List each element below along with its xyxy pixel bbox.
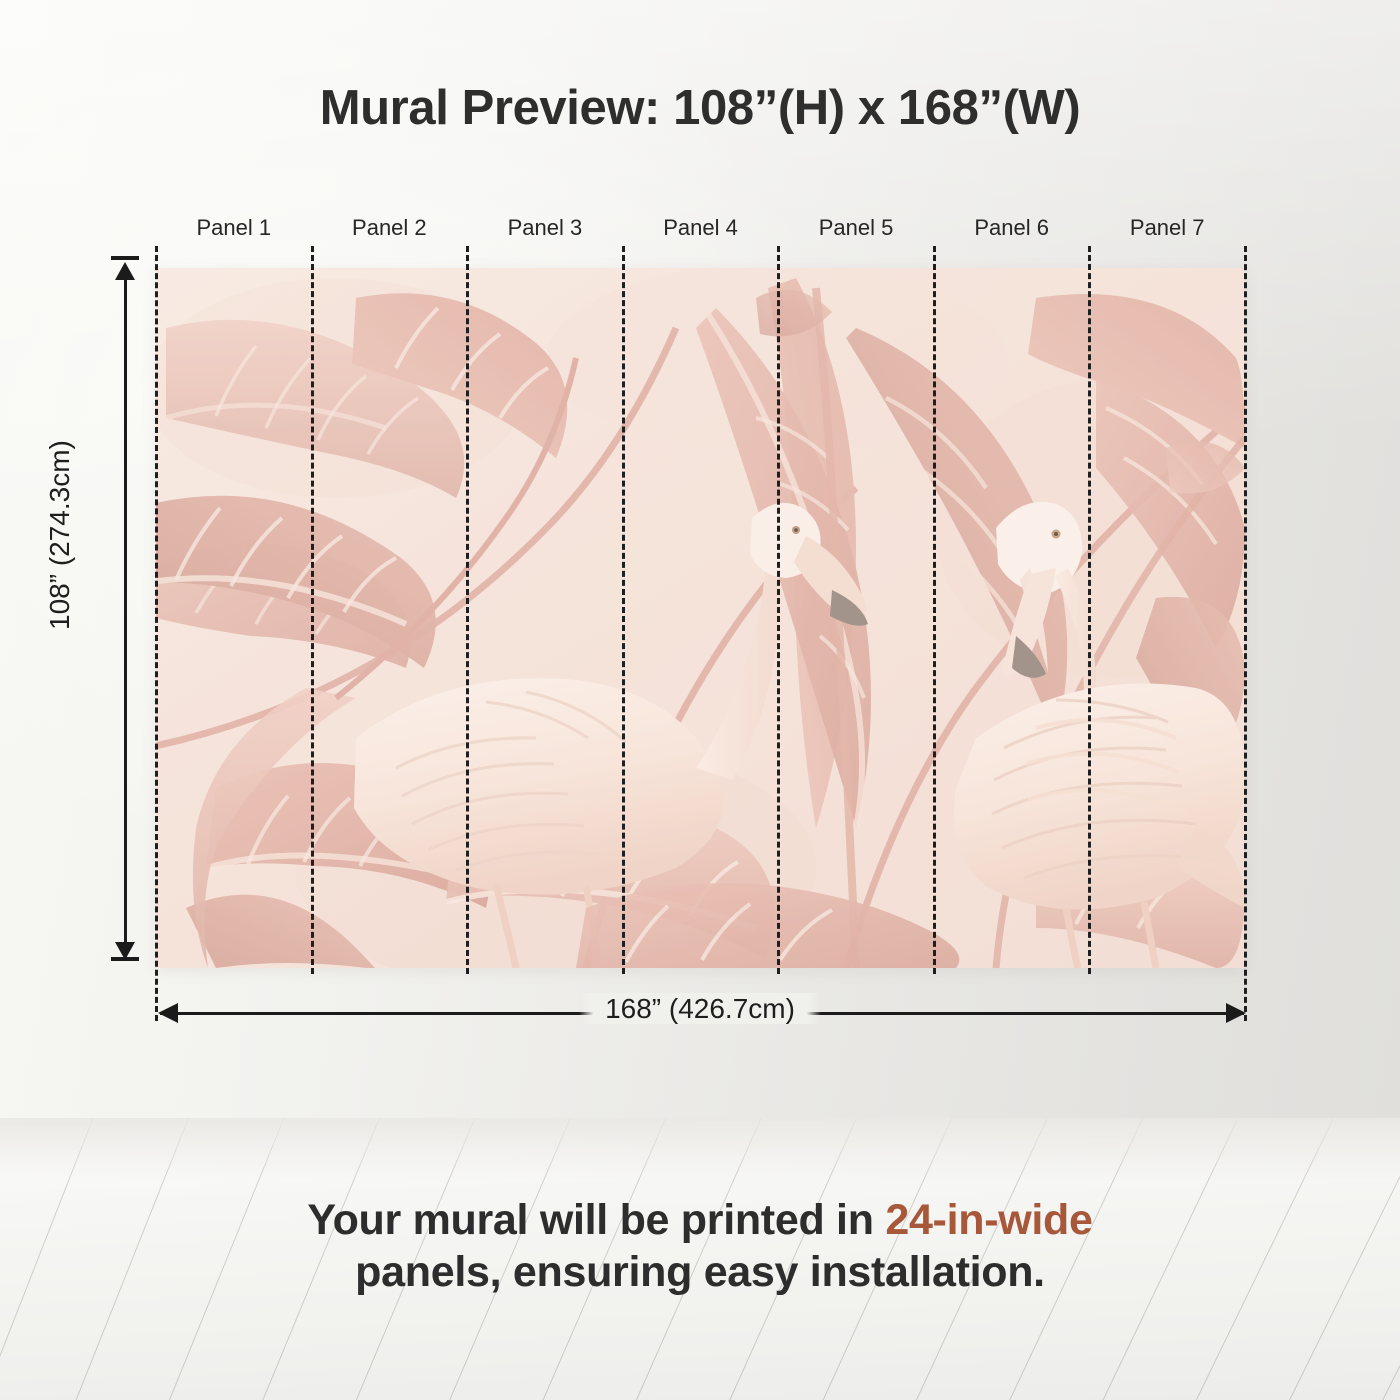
caption-line-1: Your mural will be printed in 24-in-wide [0, 1194, 1400, 1246]
height-cap-top [111, 256, 139, 260]
panel-label-6: Panel 6 [974, 215, 1049, 241]
page-title: Mural Preview: 108”(H) x 168”(W) [0, 80, 1400, 136]
panel-label-2: Panel 2 [352, 215, 427, 241]
mural-edge-dashed-line [1244, 246, 1247, 1021]
panel-label-1: Panel 1 [196, 215, 271, 241]
caption-prefix: Your mural will be printed in [307, 1196, 885, 1244]
panel-divider-dashed-line [622, 246, 625, 974]
mural-artwork-svg [156, 268, 1245, 968]
panel-divider-dashed-line [466, 246, 469, 974]
panel-divider-dashed-line [933, 246, 936, 974]
width-dimension-label-text: 168” (426.7cm) [579, 993, 821, 1024]
width-dimension-label: 168” (426.7cm) [0, 993, 1400, 1025]
panel-divider-dashed-line [777, 246, 780, 974]
panel-label-5: Panel 5 [819, 215, 894, 241]
mural-preview-page: Mural Preview: 108”(H) x 168”(W) [0, 0, 1400, 1400]
footer-caption: Your mural will be printed in 24-in-wide… [0, 1194, 1400, 1299]
mural-edge-dashed-line [155, 246, 158, 1021]
panel-label-4: Panel 4 [663, 215, 738, 241]
panel-divider-dashed-line [311, 246, 314, 974]
height-cap-bottom [111, 957, 139, 961]
caption-accent: 24-in-wide [885, 1196, 1092, 1244]
panel-label-3: Panel 3 [508, 215, 583, 241]
panel-label-7: Panel 7 [1130, 215, 1205, 241]
caption-line-2: panels, ensuring easy installation. [0, 1246, 1400, 1298]
height-dimension-label: 108” (274.3cm) [44, 440, 76, 630]
mural-artwork[interactable] [156, 268, 1245, 968]
height-dimension-line [124, 268, 127, 960]
panel-divider-dashed-line [1088, 246, 1091, 974]
